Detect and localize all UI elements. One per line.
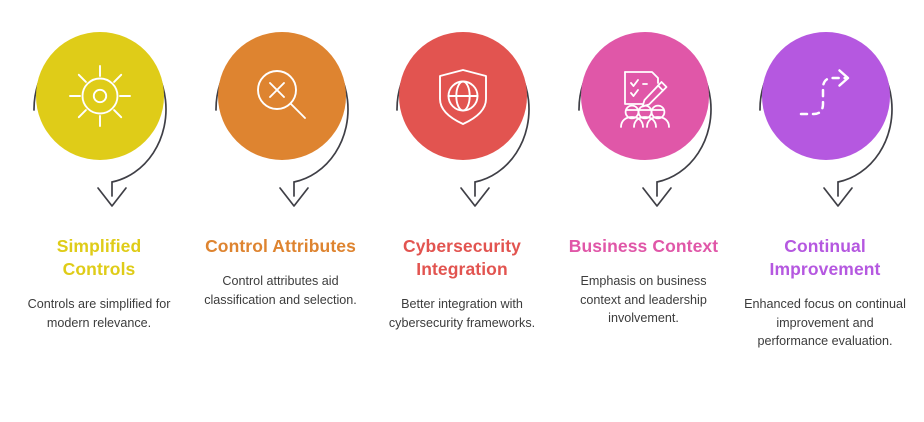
text-block-simplified-controls: Simplified Controls Controls are simplif… (11, 235, 187, 332)
icon-disc-cybersecurity-integration (399, 32, 527, 160)
heading-control-attributes: Control Attributes (193, 235, 369, 258)
icon-disc-continual-improvement (762, 32, 890, 160)
icon-disc-control-attributes (218, 32, 346, 160)
infographic-column-business-context: Business Context Emphasis on business co… (559, 0, 729, 328)
body-control-attributes: Control attributes aid classification an… (193, 272, 369, 309)
body-business-context: Emphasis on business context and leaders… (556, 272, 732, 328)
icon-disc-business-context (581, 32, 709, 160)
icon-disc-simplified-controls (36, 32, 164, 160)
infographic-column-control-attributes: Control Attributes Control attributes ai… (196, 0, 366, 309)
heading-simplified-controls: Simplified Controls (11, 235, 187, 281)
infographic-root: Simplified Controls Controls are simplif… (0, 0, 924, 422)
node-business-context (559, 0, 729, 215)
checklist-people-icon (608, 59, 682, 133)
node-simplified-controls (14, 0, 184, 215)
body-cybersecurity-integration: Better integration with cybersecurity fr… (374, 295, 550, 332)
body-continual-improvement: Enhanced focus on continual improvement … (737, 295, 913, 351)
node-control-attributes (196, 0, 366, 215)
infographic-columns: Simplified Controls Controls are simplif… (0, 0, 924, 422)
magnifier-x-icon (245, 59, 319, 133)
text-block-control-attributes: Control Attributes Control attributes ai… (193, 235, 369, 309)
heading-continual-improvement: Continual Improvement (737, 235, 913, 281)
infographic-column-cybersecurity-integration: Cybersecurity Integration Better integra… (377, 0, 547, 332)
text-block-continual-improvement: Continual Improvement Enhanced focus on … (737, 235, 913, 351)
heading-business-context: Business Context (556, 235, 732, 258)
dashed-curved-arrow-icon (789, 59, 863, 133)
shield-globe-icon (426, 59, 500, 133)
infographic-column-simplified-controls: Simplified Controls Controls are simplif… (14, 0, 184, 332)
body-simplified-controls: Controls are simplified for modern relev… (11, 295, 187, 332)
node-cybersecurity-integration (377, 0, 547, 215)
node-continual-improvement (740, 0, 910, 215)
text-block-cybersecurity-integration: Cybersecurity Integration Better integra… (374, 235, 550, 332)
sun-gear-icon (63, 59, 137, 133)
heading-cybersecurity-integration: Cybersecurity Integration (374, 235, 550, 281)
text-block-business-context: Business Context Emphasis on business co… (556, 235, 732, 328)
infographic-column-continual-improvement: Continual Improvement Enhanced focus on … (740, 0, 910, 351)
